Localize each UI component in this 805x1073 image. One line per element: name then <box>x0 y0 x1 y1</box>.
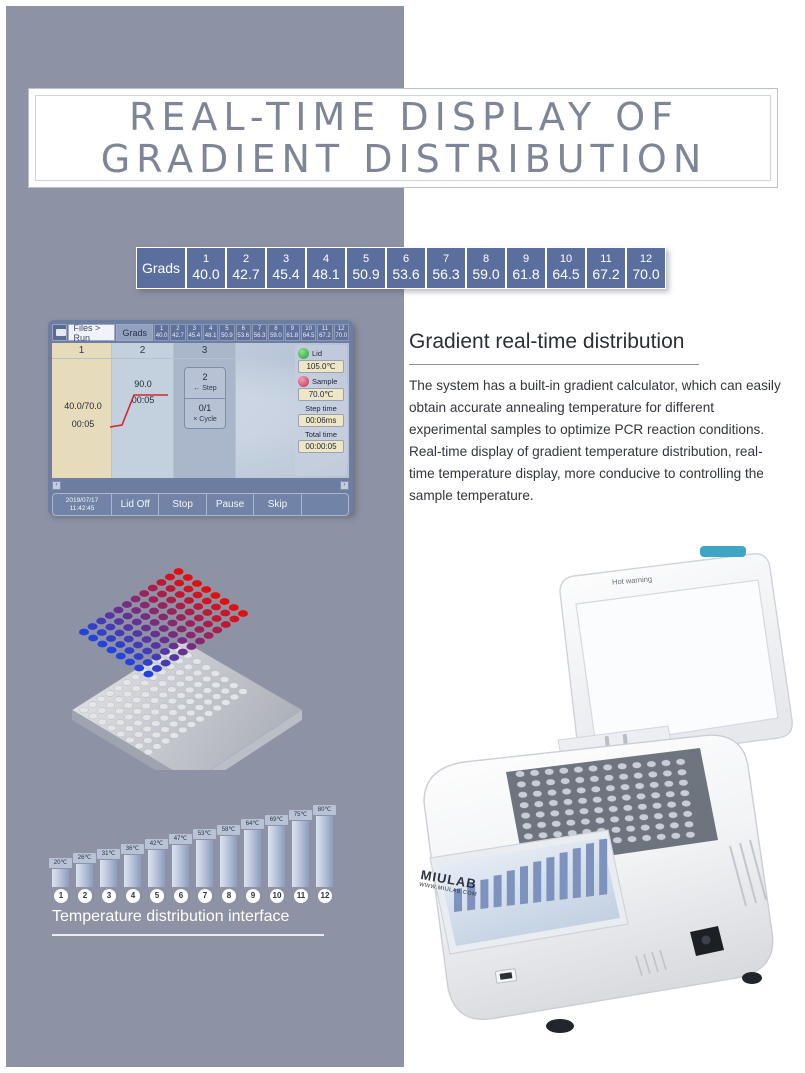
screen-grad-index: 9 <box>286 326 299 333</box>
chart-bar-index: 3 <box>102 889 116 903</box>
machine-screen-bar <box>586 843 594 897</box>
machine-well <box>638 804 647 810</box>
machine-well <box>546 779 555 785</box>
chart-bar-label: 36℃ <box>121 844 144 854</box>
plate-gradient-dot <box>174 568 184 575</box>
screen-grad-index: 7 <box>253 326 266 333</box>
plate-gradient-dot <box>185 620 195 627</box>
grads-index: 12 <box>627 253 665 266</box>
plate-well <box>195 705 204 711</box>
machine-well <box>561 778 570 784</box>
screen-grad-index: 2 <box>171 326 184 333</box>
plate-gradient-dot <box>131 596 141 603</box>
plate-gradient-dot <box>186 643 196 650</box>
plate-gradient-dot <box>169 654 179 661</box>
plate-well <box>131 674 140 680</box>
plate-gradient-dot <box>114 618 124 625</box>
screen-program-area: 1 40.0/70.0 00:05 2 90.0 00:05 3 2 ← Ste… <box>52 343 349 478</box>
grads-index: 4 <box>307 253 345 266</box>
plate-gradient-dot <box>116 653 126 660</box>
chart-bar: 20℃ <box>52 869 69 887</box>
chart-bar-index: 1 <box>54 889 68 903</box>
total-time-value: 00:00:05 <box>298 440 344 453</box>
grads-value: 67.2 <box>587 266 625 283</box>
machine-well <box>679 780 688 786</box>
machine-well <box>566 820 575 826</box>
plate-gradient-dot <box>88 623 98 630</box>
machine-well <box>524 833 533 839</box>
plate-gradient-dot <box>124 636 134 643</box>
plate-well <box>167 687 176 693</box>
screen-grad-cell[interactable]: 961.8 <box>285 324 300 341</box>
plate-gradient-dot <box>157 591 167 598</box>
screen-grad-value: 61.8 <box>286 333 299 340</box>
plate-well <box>194 682 203 688</box>
plate-gradient-dot <box>156 579 166 586</box>
grads-index: 6 <box>387 253 425 266</box>
machine-screen-bar <box>480 879 488 909</box>
plate-well <box>134 720 143 726</box>
plate-gradient-dot <box>166 585 176 592</box>
chart-bar-label: 75℃ <box>289 810 312 820</box>
page-title: Real-time display of gradient distributi… <box>29 97 779 179</box>
plate-well <box>193 659 202 665</box>
plate-gradient-dot <box>151 654 161 661</box>
step-number: 2 <box>112 343 173 359</box>
plate-gradient-dot <box>133 642 143 649</box>
screen-grad-cell[interactable]: 859.0 <box>268 324 283 341</box>
machine-well <box>594 807 603 813</box>
screen-grad-index: 8 <box>269 326 282 333</box>
plate-well <box>221 700 230 706</box>
plate-gradient-dot <box>175 591 185 598</box>
lid-status-row: Lid <box>298 348 344 359</box>
machine-well <box>574 766 583 772</box>
plate-well <box>141 692 150 698</box>
grads-cell: 448.1 <box>306 247 346 289</box>
plate-gradient-dot <box>169 643 179 650</box>
plate-gradient-dot <box>168 631 178 638</box>
plate-well <box>153 744 162 750</box>
title-banner: Real-time display of gradient distributi… <box>28 88 778 188</box>
plate-gradient-dot <box>158 602 168 609</box>
screen-grad-index: 4 <box>204 326 217 333</box>
grads-index: 9 <box>507 253 545 266</box>
machine-well <box>552 821 561 827</box>
plate-gradient-dot <box>194 626 204 633</box>
plate-gradient-dot <box>140 602 150 609</box>
plate-gradient-dot <box>176 614 186 621</box>
screen-grad-index: 6 <box>237 326 250 333</box>
sample-temperature-value: 70.0℃ <box>298 388 344 401</box>
chart-bar: 64℃ <box>244 830 261 887</box>
plate-well <box>159 704 168 710</box>
plate-gradient-dot <box>195 638 205 645</box>
machine-well <box>642 835 651 841</box>
machine-well <box>520 802 529 808</box>
chart-bar-label: 31℃ <box>97 849 120 859</box>
machine-well <box>632 762 641 768</box>
screen-grad-cell[interactable]: 1270.0 <box>334 324 349 341</box>
plate-gradient-dot <box>149 608 159 615</box>
machine-screen-bar <box>533 861 541 903</box>
grads-value: 50.9 <box>347 266 385 283</box>
machine-well <box>610 816 619 822</box>
plate-gradient-dot <box>132 619 142 626</box>
grads-value: 42.7 <box>227 266 265 283</box>
sample-indicator-icon <box>298 376 309 387</box>
clock-time: 11:42:45 <box>70 505 95 513</box>
chart-bar: 80℃ <box>316 816 333 887</box>
plate-gradient-dot <box>152 665 162 672</box>
screen-grad-index: 10 <box>302 326 315 333</box>
machine-well <box>651 792 660 798</box>
plate-gradient-dot <box>177 626 187 633</box>
plate-well <box>107 714 116 720</box>
plate-gradient-dot <box>140 613 150 620</box>
machine-well <box>537 822 546 828</box>
plate-gradient-dot <box>212 615 222 622</box>
screen-grad-index: 5 <box>220 326 233 333</box>
machine-well <box>575 777 584 783</box>
section-body: The system has a built-in gradient calcu… <box>409 375 787 507</box>
grads-index: 11 <box>587 253 625 266</box>
machine-well <box>518 792 527 798</box>
machine-well <box>666 791 675 797</box>
chart-bar-index: 10 <box>270 889 284 903</box>
screen-grad-value: 70.0 <box>335 333 348 340</box>
plate-well <box>124 714 133 720</box>
screen-grad-cell[interactable]: 1167.2 <box>317 324 332 341</box>
plate-well <box>114 685 123 691</box>
machine-well <box>680 790 689 796</box>
chart-bar-index: 7 <box>198 889 212 903</box>
plate-gradient-dot <box>123 624 133 631</box>
machine-well <box>684 821 693 827</box>
machine-well <box>581 818 590 824</box>
plate-gradient-dot <box>134 653 144 660</box>
chart-bar: 58℃ <box>220 836 237 887</box>
machine-well <box>671 833 680 839</box>
step-time-value: 00:06ms <box>298 414 344 427</box>
poster-page: Real-time display of gradient distributi… <box>0 0 805 1073</box>
plate-well <box>132 697 141 703</box>
folder-icon[interactable] <box>52 324 67 341</box>
chart-bar: 47℃ <box>172 845 189 887</box>
machine-well <box>611 827 620 833</box>
plate-gradient-dot <box>229 616 239 623</box>
tab-grads[interactable]: Grads <box>116 324 153 341</box>
plate-well <box>123 680 132 686</box>
machine-well <box>530 770 539 776</box>
scroll-thumb[interactable] <box>62 481 339 490</box>
plate-well <box>203 688 212 694</box>
plate-well <box>221 688 230 694</box>
chart-bar-label: 53℃ <box>193 829 216 839</box>
plate-gradient-dot <box>79 629 89 636</box>
plate-well <box>150 698 159 704</box>
plate-well <box>80 707 89 713</box>
plate-gradient-dot <box>174 580 184 587</box>
goto-cycle-box[interactable]: 2 ← Step 0/1 × Cycle <box>184 367 226 429</box>
machine-well <box>647 761 656 767</box>
machine-well <box>533 791 542 797</box>
plate-gradient-dot <box>185 609 195 616</box>
screen-grad-cell[interactable]: 756.3 <box>252 324 267 341</box>
plate-gradient-dot <box>201 586 211 593</box>
chart-bar-label: 80℃ <box>313 805 336 815</box>
plate-well <box>115 708 124 714</box>
machine-well <box>618 763 627 769</box>
plate-well <box>161 738 170 744</box>
cycle-label: × Cycle <box>193 414 217 425</box>
plate-gradient-dot <box>211 604 221 611</box>
cycle-row: 0/1 × Cycle <box>185 399 225 429</box>
screen-grad-value: 45.4 <box>188 333 201 340</box>
plate-gradient-dot <box>122 601 132 608</box>
machine-well <box>664 781 673 787</box>
plate-well <box>125 726 134 732</box>
machine-well <box>639 814 648 820</box>
machine-svg <box>400 540 800 1060</box>
machine-screen-bar <box>494 875 502 908</box>
plate-gradient-dot <box>148 596 158 603</box>
machine-well <box>515 771 524 777</box>
plate-gradient-dot <box>204 632 214 639</box>
grads-cell: 1167.2 <box>586 247 626 289</box>
grads-cell: 1270.0 <box>626 247 666 289</box>
machine-well <box>654 813 663 819</box>
machine-well <box>655 823 664 829</box>
machine-well <box>607 795 616 801</box>
machine-well <box>534 801 543 807</box>
machine-well <box>652 803 661 809</box>
grads-cell: 653.6 <box>386 247 426 289</box>
plate-well <box>150 686 159 692</box>
screen-toolbar: 2019/07/17 11:42:45 Lid Off Stop Pause S… <box>52 493 349 516</box>
machine-well <box>545 769 554 775</box>
machine-well <box>626 826 635 832</box>
chart-bar-label: 26℃ <box>73 853 96 863</box>
plate-svg <box>70 530 360 770</box>
machine-well <box>547 789 556 795</box>
plate-well <box>151 721 160 727</box>
plate-gradient-dot <box>134 665 144 672</box>
plate-well <box>184 664 193 670</box>
chart-bar: 53℃ <box>196 840 213 887</box>
pcr-thermocycler-image: Hot warning MIULAB WWW.MIULAB.COM <box>400 540 800 1060</box>
plate-gradient-dot <box>141 625 151 632</box>
plate-well <box>133 709 142 715</box>
horizontal-scrollbar[interactable]: ‹ › <box>52 480 349 491</box>
pcr-touchscreen: Files > Run Grads 140.0 242.7 345.4 448.… <box>48 320 353 515</box>
plate-gradient-dot <box>167 620 177 627</box>
plate-gradient-dot <box>161 660 171 667</box>
plate-well <box>194 693 203 699</box>
machine-well <box>521 812 530 818</box>
machine-well <box>531 780 540 786</box>
plate-well <box>105 691 114 697</box>
grads-value: 56.3 <box>427 266 465 283</box>
plate-well <box>212 682 221 688</box>
plate-well <box>159 692 168 698</box>
plate-gradient-dot <box>97 641 107 648</box>
section-divider <box>409 364 699 365</box>
chart-bar: 26℃ <box>76 864 93 887</box>
machine-well <box>650 782 659 788</box>
chart-bar-index: 8 <box>222 889 236 903</box>
plate-gradient-dot <box>212 627 222 634</box>
total-time-label: Total time <box>298 430 344 439</box>
machine-screen-bar <box>573 848 581 899</box>
plate-well <box>169 721 178 727</box>
machine-well <box>522 823 531 829</box>
chart-bar: 31℃ <box>100 860 117 887</box>
plate-well <box>204 711 213 717</box>
machine-well <box>562 788 571 794</box>
chart-bar: 69℃ <box>268 826 285 887</box>
plate-well <box>135 743 144 749</box>
grads-cell: 140.0 <box>186 247 226 289</box>
step-duration: 00:05 <box>54 419 112 429</box>
grads-cell: 859.0 <box>466 247 506 289</box>
machine-well <box>641 824 650 830</box>
chart-caption: Temperature distribution interface <box>52 908 289 926</box>
plate-gradient-dot <box>220 598 230 605</box>
chart-caption-underline <box>52 934 324 936</box>
stop-button[interactable]: Stop <box>159 494 206 515</box>
tab-files-run[interactable]: Files > Run <box>68 324 116 341</box>
chart-bar: 75℃ <box>292 821 309 887</box>
grads-cell: 242.7 <box>226 247 266 289</box>
plate-gradient-dot <box>150 619 160 626</box>
page-title-line2: gradient distribution <box>29 139 779 179</box>
plate-well <box>151 709 160 715</box>
plate-gradient-dot <box>88 635 98 642</box>
machine-well <box>593 797 602 803</box>
machine-well <box>663 770 672 776</box>
plate-gradient-dot <box>132 630 142 637</box>
sample-status-row: Sample <box>298 376 344 387</box>
plate-gradient-dot <box>192 580 202 587</box>
plate-gradient-dot <box>202 609 212 616</box>
grads-index: 3 <box>267 253 305 266</box>
screen-grad-value: 67.2 <box>318 333 331 340</box>
machine-lid <box>560 546 792 762</box>
scroll-right-arrow-icon[interactable]: › <box>340 481 349 490</box>
screen-grad-cell[interactable]: 242.7 <box>170 324 185 341</box>
grads-value: 40.0 <box>187 266 225 283</box>
plate-well <box>152 732 161 738</box>
grads-value: 45.4 <box>267 266 305 283</box>
plate-well <box>116 731 125 737</box>
screen-grad-cell[interactable]: 653.6 <box>236 324 251 341</box>
plate-well <box>123 691 132 697</box>
plate-well <box>115 697 124 703</box>
program-step-3[interactable]: 3 2 ← Step 0/1 × Cycle <box>174 343 236 478</box>
step-temperature: 40.0/70.0 <box>54 401 112 411</box>
pause-button[interactable]: Pause <box>207 494 254 515</box>
step-number: 1 <box>52 343 111 359</box>
grads-cell: 756.3 <box>426 247 466 289</box>
plate-well <box>196 716 205 722</box>
grads-index: 8 <box>467 253 505 266</box>
grads-cell: 961.8 <box>506 247 546 289</box>
program-step-1[interactable]: 1 40.0/70.0 00:05 <box>52 343 112 478</box>
lid-label: Lid <box>312 349 322 358</box>
plate-gradient-dot <box>148 585 158 592</box>
screen-grad-cell[interactable]: 448.1 <box>203 324 218 341</box>
plate-well <box>185 687 194 693</box>
plate-well <box>175 670 184 676</box>
clock-display: 2019/07/17 11:42:45 <box>53 494 112 515</box>
plate-gradient-dot <box>105 624 115 631</box>
scroll-left-arrow-icon[interactable]: ‹ <box>52 481 61 490</box>
plate-gradient-dot <box>183 574 193 581</box>
plate-gradient-dot <box>160 648 170 655</box>
plate-gradient-dot <box>175 603 185 610</box>
plate-gradient-dot <box>203 621 213 628</box>
plate-gradient-dot <box>159 637 169 644</box>
grads-index: 10 <box>547 253 585 266</box>
plate-gradient-dot <box>167 608 177 615</box>
plate-gradient-dot <box>113 607 123 614</box>
plate-gradient-dot <box>159 625 169 632</box>
chart-bar-label: 47℃ <box>169 834 192 844</box>
chart-bar-index: 2 <box>78 889 92 903</box>
machine-well <box>625 815 634 821</box>
plate-gradient-dot <box>193 603 203 610</box>
96-well-plate-illustration <box>70 530 360 770</box>
machine-well <box>588 765 597 771</box>
skip-button[interactable]: Skip <box>254 494 301 515</box>
plate-well <box>143 738 152 744</box>
plate-gradient-dot <box>139 590 149 597</box>
plate-well <box>107 725 116 731</box>
plate-well <box>185 676 194 682</box>
screen-grad-cell[interactable]: 345.4 <box>187 324 202 341</box>
plate-gradient-dot <box>202 598 212 605</box>
grads-index: 1 <box>187 253 225 266</box>
grads-cell: 345.4 <box>266 247 306 289</box>
lid-off-button[interactable]: Lid Off <box>112 494 159 515</box>
screen-grad-cell[interactable]: 140.0 <box>154 324 169 341</box>
plate-gradient-dot <box>158 614 168 621</box>
screen-grad-cell[interactable]: 550.9 <box>219 324 234 341</box>
screen-grad-value: 64.5 <box>302 333 315 340</box>
temperature-bar-chart: 20℃126℃231℃336℃442℃547℃653℃758℃864℃969℃1… <box>52 800 342 905</box>
plate-well <box>169 710 178 716</box>
machine-well <box>682 800 691 806</box>
section-title: Gradient real-time distribution <box>409 330 684 354</box>
screen-grad-cell[interactable]: 1064.5 <box>301 324 316 341</box>
plate-well <box>160 715 169 721</box>
chart-bar-index: 5 <box>150 889 164 903</box>
machine-well <box>590 776 599 782</box>
plate-gradient-dot <box>165 574 175 581</box>
machine-well <box>517 781 526 787</box>
chart-bar-index: 11 <box>294 889 308 903</box>
plate-well <box>239 689 248 695</box>
grads-cell: 1064.5 <box>546 247 586 289</box>
screen-grad-index: 3 <box>188 326 201 333</box>
machine-well <box>622 794 631 800</box>
screen-grad-index: 11 <box>318 326 331 333</box>
machine-well <box>553 831 562 837</box>
machine-well <box>604 775 613 781</box>
plate-well <box>178 727 187 733</box>
plate-well <box>229 683 238 689</box>
